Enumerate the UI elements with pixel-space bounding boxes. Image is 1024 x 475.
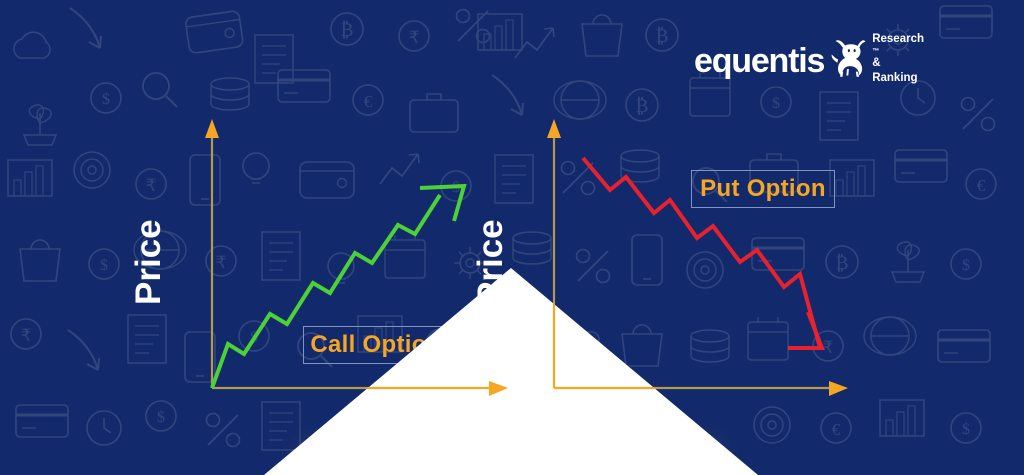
- infographic-canvas: $: [0, 0, 1024, 475]
- logo-tagline-research: Research™: [872, 32, 924, 56]
- logo-tagline: Research™ & Ranking: [872, 32, 924, 87]
- put-y-axis-arrowhead: [547, 119, 561, 138]
- equentis-logo[interactable]: equentis Research™ & Ranking: [694, 24, 924, 90]
- call-option-arrowhead: [420, 186, 464, 221]
- logo-tagline-ranking: Ranking: [872, 71, 924, 86]
- call-option-tag: Call Option: [303, 326, 449, 364]
- logo-tagline-amp: &: [872, 56, 924, 71]
- logo-wordmark: equentis: [694, 44, 824, 78]
- call-x-axis-arrowhead: [489, 381, 508, 396]
- put-price-axis-label: Price: [471, 219, 511, 305]
- call-x-axis-arrowhead-on-white: [489, 381, 508, 396]
- put-option-tag: Put Option: [691, 170, 835, 208]
- trademark-symbol: ™: [872, 47, 924, 56]
- call-y-axis-arrowhead: [205, 119, 219, 138]
- bull-icon: [826, 26, 868, 88]
- put-x-axis-arrowhead: [829, 381, 848, 396]
- call-price-axis-label: Price: [129, 219, 169, 305]
- triangle-drop-shadow: [295, 440, 725, 460]
- put-option-arrowhead: [788, 312, 822, 348]
